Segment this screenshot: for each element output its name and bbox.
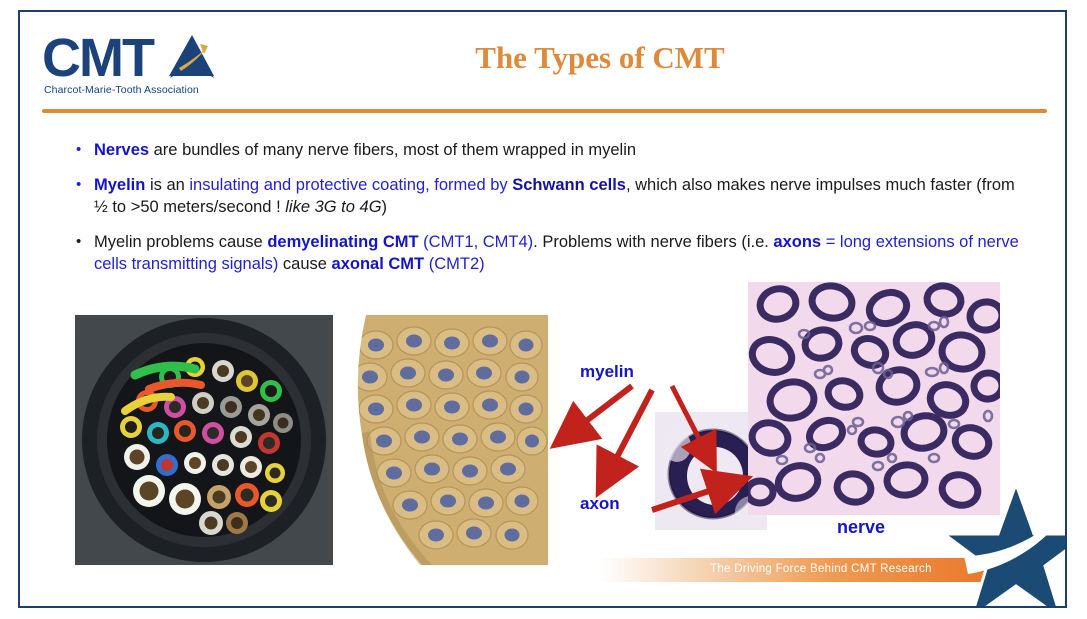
bullet-dot-icon: • — [76, 232, 81, 252]
bullet-run: Myelin — [94, 176, 145, 194]
bullet-run: cause — [278, 255, 331, 273]
bullet-text: Myelin is an insulating and protective c… — [94, 176, 1015, 216]
callout-label-myelin: myelin — [580, 362, 634, 382]
bullet-run: demyelinating CMT — [267, 233, 418, 251]
bullet-run: Schwann cells — [512, 176, 626, 194]
cmta-logo: CMT Charcot-Marie-Tooth Association — [42, 32, 232, 104]
bullet-item: • Myelin is an insulating and protective… — [72, 175, 1032, 219]
bullet-run: like 3G to 4G — [285, 198, 381, 216]
bullet-run: (CMT1, CMT4) — [419, 233, 534, 251]
bullet-run: is an — [145, 176, 189, 194]
bullet-run: Myelin problems cause — [94, 233, 267, 251]
bullet-item: • Nerves are bundles of many nerve fiber… — [72, 140, 1032, 162]
bullet-list: • Nerves are bundles of many nerve fiber… — [72, 140, 1032, 289]
cmta-star-icon — [946, 482, 1067, 608]
bullet-run: are bundles of many nerve fibers, most o… — [149, 141, 636, 159]
bullet-run: axonal CMT — [332, 255, 425, 273]
bullet-item: • Myelin problems cause demyelinating CM… — [72, 232, 1032, 276]
figure-cable-cross-section — [75, 315, 333, 565]
bullet-dot-icon: • — [76, 140, 81, 160]
callout-label-nerve: nerve — [837, 517, 885, 538]
slide: CMT Charcot-Marie-Tooth Association The … — [18, 10, 1067, 608]
callout-label-axon: axon — [580, 494, 620, 514]
svg-text:CMT: CMT — [42, 32, 155, 84]
bullet-run: axons — [773, 233, 821, 251]
bullet-run: Nerves — [94, 141, 149, 159]
bullet-run: (CMT2) — [424, 255, 485, 273]
bullet-run: . Problems with nerve fibers (i.e. — [533, 233, 773, 251]
cmta-wordmark-icon: CMT — [42, 32, 232, 84]
bullet-text: Nerves are bundles of many nerve fibers,… — [94, 141, 636, 159]
cmta-logo-subtitle: Charcot-Marie-Tooth Association — [44, 84, 244, 96]
title-divider — [42, 109, 1047, 113]
bullet-run: ) — [382, 198, 388, 216]
page-title: The Types of CMT — [250, 40, 950, 76]
callout-arrows — [540, 342, 800, 552]
figure-nerve-fascicle-sem — [336, 315, 548, 565]
bullet-text: Myelin problems cause demyelinating CMT … — [94, 233, 1019, 273]
bullet-dot-icon: • — [76, 175, 81, 195]
bullet-run: insulating and protective coating, forme… — [189, 176, 512, 194]
